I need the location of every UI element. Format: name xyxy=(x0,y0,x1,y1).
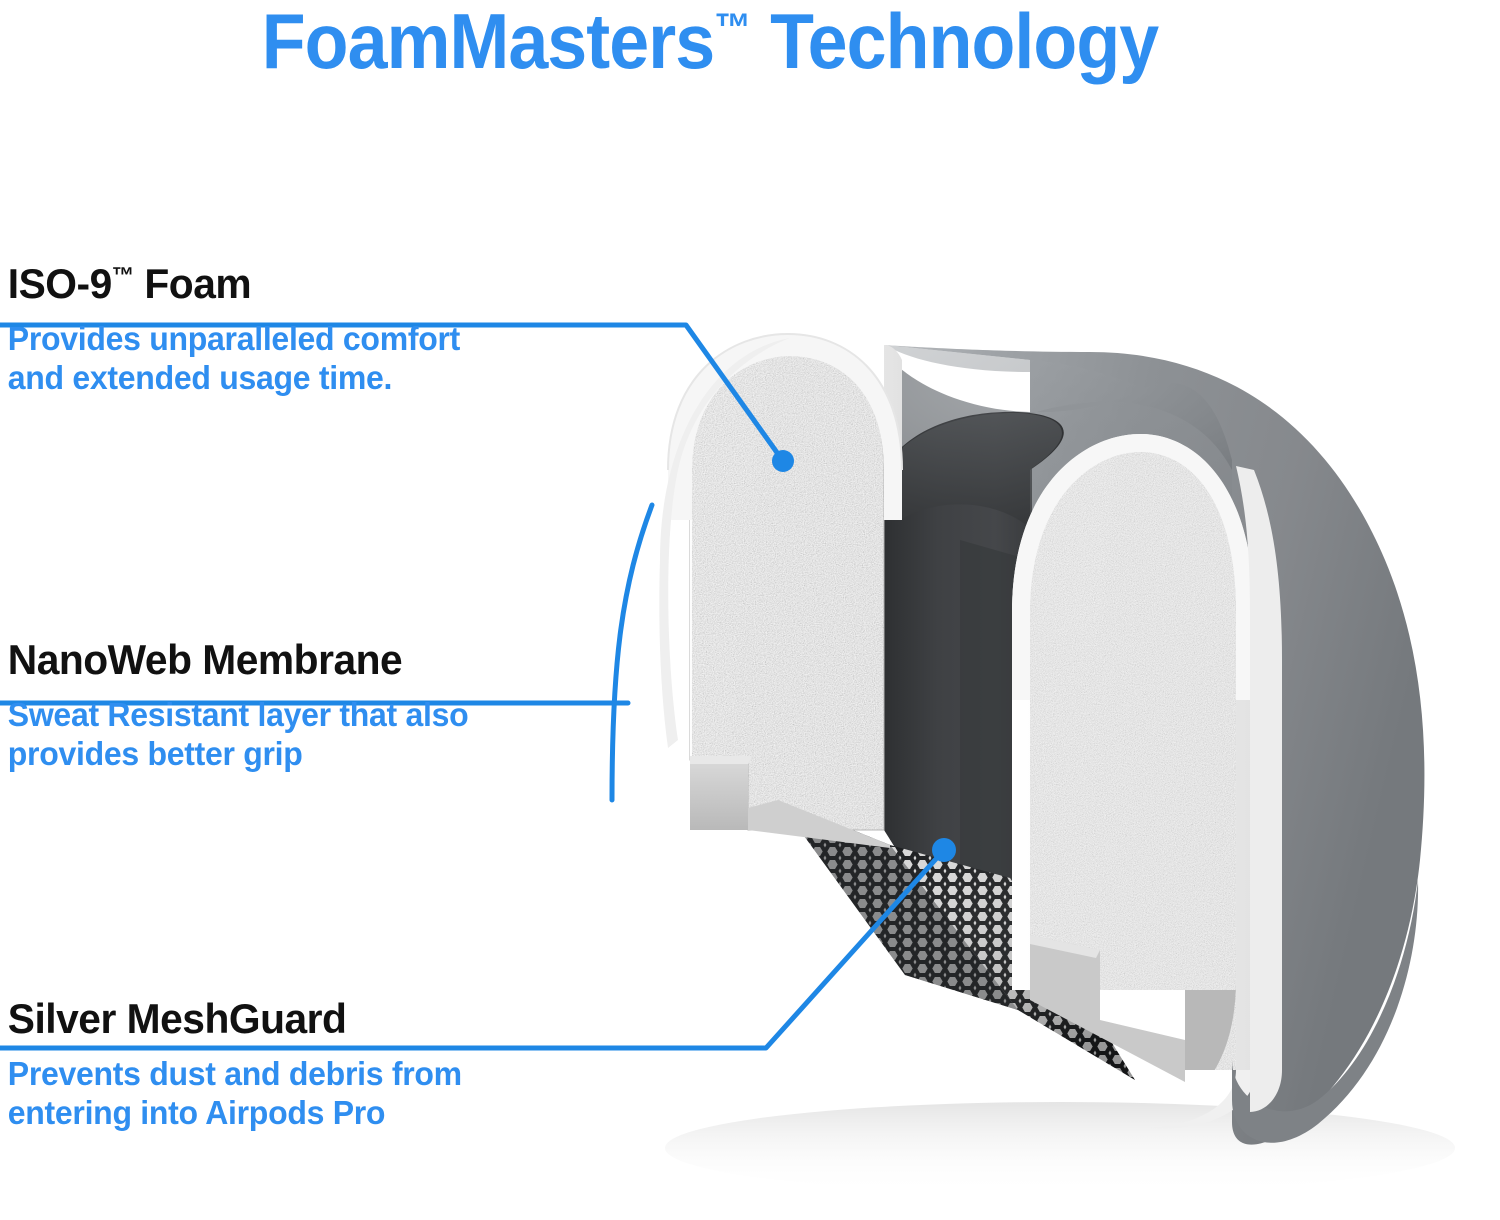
trademark-symbol: ™ xyxy=(112,262,134,288)
callout-body-line: and extended usage time. xyxy=(8,359,460,398)
callout-body-silver-meshguard: Prevents dust and debris from entering i… xyxy=(0,1041,462,1132)
callout-body-nanoweb-membrane: Sweat Resistant layer that also provides… xyxy=(0,682,468,773)
callout-dot-iso9-foam xyxy=(772,450,794,472)
callout-body-line: provides better grip xyxy=(8,735,469,774)
foam-left-sill-top xyxy=(690,756,752,764)
callout-body-line: Prevents dust and debris from xyxy=(8,1055,462,1094)
callout-body-line: Provides unparalleled comfort xyxy=(8,320,460,359)
callout-heading-nanoweb-membrane: NanoWeb Membrane xyxy=(0,638,468,682)
callout-body-line: Sweat Resistant layer that also xyxy=(8,696,469,735)
callout-silver-meshguard: Silver MeshGuard Prevents dust and debri… xyxy=(0,997,476,1132)
callout-iso-9-foam: ISO-9™ Foam Provides unparalleled comfor… xyxy=(0,262,474,397)
callout-dot-meshguard xyxy=(932,838,956,862)
foam-left-sill xyxy=(690,760,748,830)
callout-heading-silver-meshguard: Silver MeshGuard xyxy=(0,997,462,1041)
infographic-canvas: FoamMasters™ Technology xyxy=(0,0,1500,1220)
callout-body-line: entering into Airpods Pro xyxy=(8,1094,462,1133)
callout-body-iso-9-foam: Provides unparalleled comfort and extend… xyxy=(0,306,460,397)
callout-nanoweb-membrane: NanoWeb Membrane Sweat Resistant layer t… xyxy=(0,638,483,773)
callout-heading-iso-9-foam: ISO-9™ Foam xyxy=(0,262,460,306)
leader-line-nanoweb-curve xyxy=(612,505,652,800)
